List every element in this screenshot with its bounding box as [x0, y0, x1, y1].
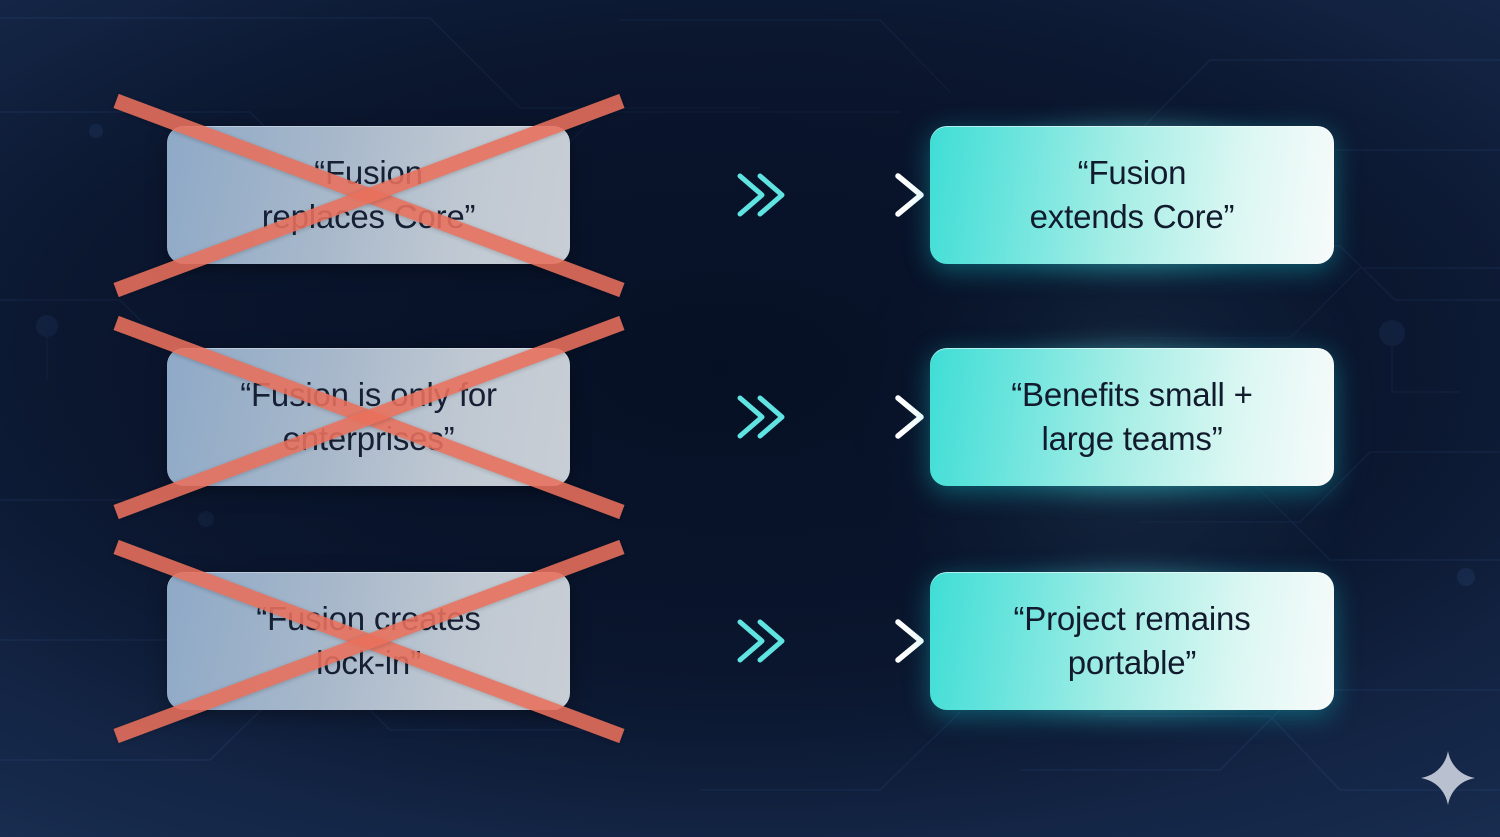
myth-card[interactable]: “Fusion replaces Core” — [167, 126, 570, 264]
truth-card-label: “Project remains portable” — [991, 597, 1272, 684]
myth-card-label: “Fusion is only for enterprises” — [220, 373, 517, 460]
slide-canvas: “Fusion replaces Core” — [0, 0, 1500, 837]
truth-card[interactable]: “Project remains portable” — [930, 572, 1334, 710]
myth-card[interactable]: “Fusion creates lock-in” — [167, 572, 570, 710]
myth-card-label: “Fusion creates lock-in” — [236, 597, 500, 684]
myth-card-container: “Fusion is only for enterprises” — [167, 348, 570, 486]
myth-card-container: “Fusion replaces Core” — [167, 126, 570, 264]
connector-arrow — [582, 390, 930, 444]
comparison-row: “Fusion is only for enterprises” — [0, 346, 1500, 488]
truth-card[interactable]: “Fusion extends Core” — [930, 126, 1334, 264]
myth-card[interactable]: “Fusion is only for enterprises” — [167, 348, 570, 486]
myth-card-label: “Fusion replaces Core” — [242, 151, 496, 238]
truth-card-label: “Benefits small + large teams” — [989, 373, 1274, 460]
truth-card-label: “Fusion extends Core” — [1008, 151, 1257, 238]
truth-card-container: “Project remains portable” — [930, 572, 1334, 710]
truth-card[interactable]: “Benefits small + large teams” — [930, 348, 1334, 486]
comparison-row: “Fusion replaces Core” — [0, 124, 1500, 266]
sparkle-icon — [1419, 749, 1477, 807]
truth-card-container: “Fusion extends Core” — [930, 126, 1334, 264]
truth-card-container: “Benefits small + large teams” — [930, 348, 1334, 486]
connector-arrow — [582, 614, 930, 668]
comparison-rows: “Fusion replaces Core” — [0, 0, 1500, 837]
connector-arrow — [582, 168, 930, 222]
myth-card-container: “Fusion creates lock-in” — [167, 572, 570, 710]
comparison-row: “Fusion creates lock-in” — [0, 570, 1500, 712]
